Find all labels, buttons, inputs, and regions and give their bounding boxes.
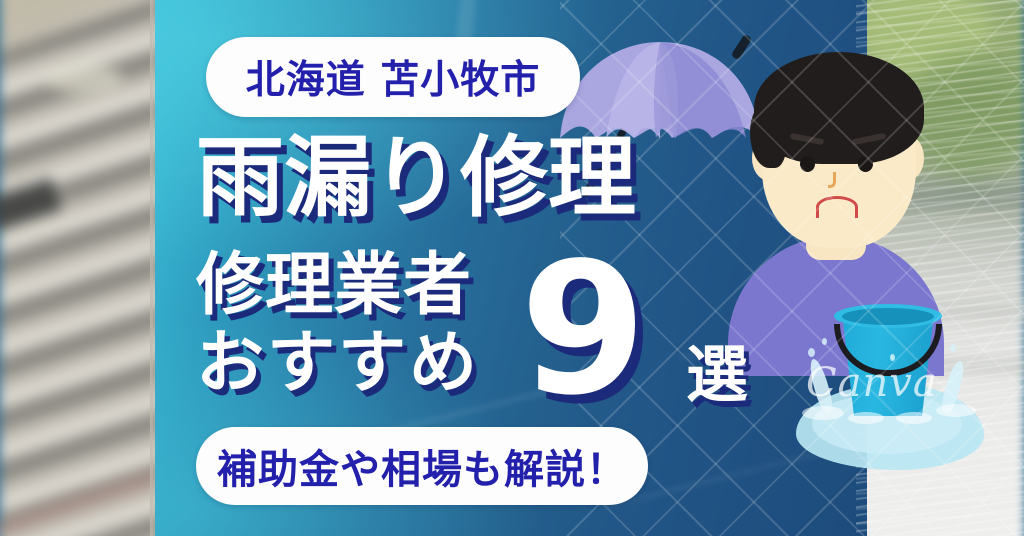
water-ripple [848, 412, 884, 424]
subtitle-line-2: おすすめ [196, 330, 480, 398]
bucket-inner [842, 308, 934, 325]
info-badge: 補助金や相場も解説！ [196, 427, 648, 505]
roof-dark-patch [0, 177, 62, 230]
info-badge-label: 補助金や相場も解説！ [217, 437, 627, 495]
water-ripple [936, 404, 976, 417]
water-ripple [896, 412, 932, 424]
water-ripple [802, 406, 844, 420]
boy-hair-sideburn [750, 102, 786, 168]
bucket-icon [800, 298, 990, 478]
region-badge: 北海道 苫小牧市 [206, 37, 580, 117]
region-badge-label: 北海道 苫小牧市 [246, 49, 541, 105]
roof-moss-patch [45, 64, 123, 93]
water-droplet [808, 348, 815, 357]
count-unit: 選 [686, 344, 748, 406]
boy-eye-left [800, 156, 815, 172]
boy-nose [828, 172, 836, 188]
subtitle-line-1: 修理業者 [196, 252, 472, 320]
boy-frown-mouth [816, 196, 858, 218]
water-droplet [890, 354, 895, 361]
boy-eye-right [858, 156, 873, 172]
page-title: 雨漏り修理 [196, 134, 636, 222]
banner-canvas: Canva 北海道 苫小牧市 雨漏り修理 修理業者 おすすめ 9 選 補助金や相… [0, 0, 1024, 536]
count-number: 9 [520, 238, 647, 420]
water-droplet [950, 344, 956, 352]
water-droplet [822, 338, 827, 345]
